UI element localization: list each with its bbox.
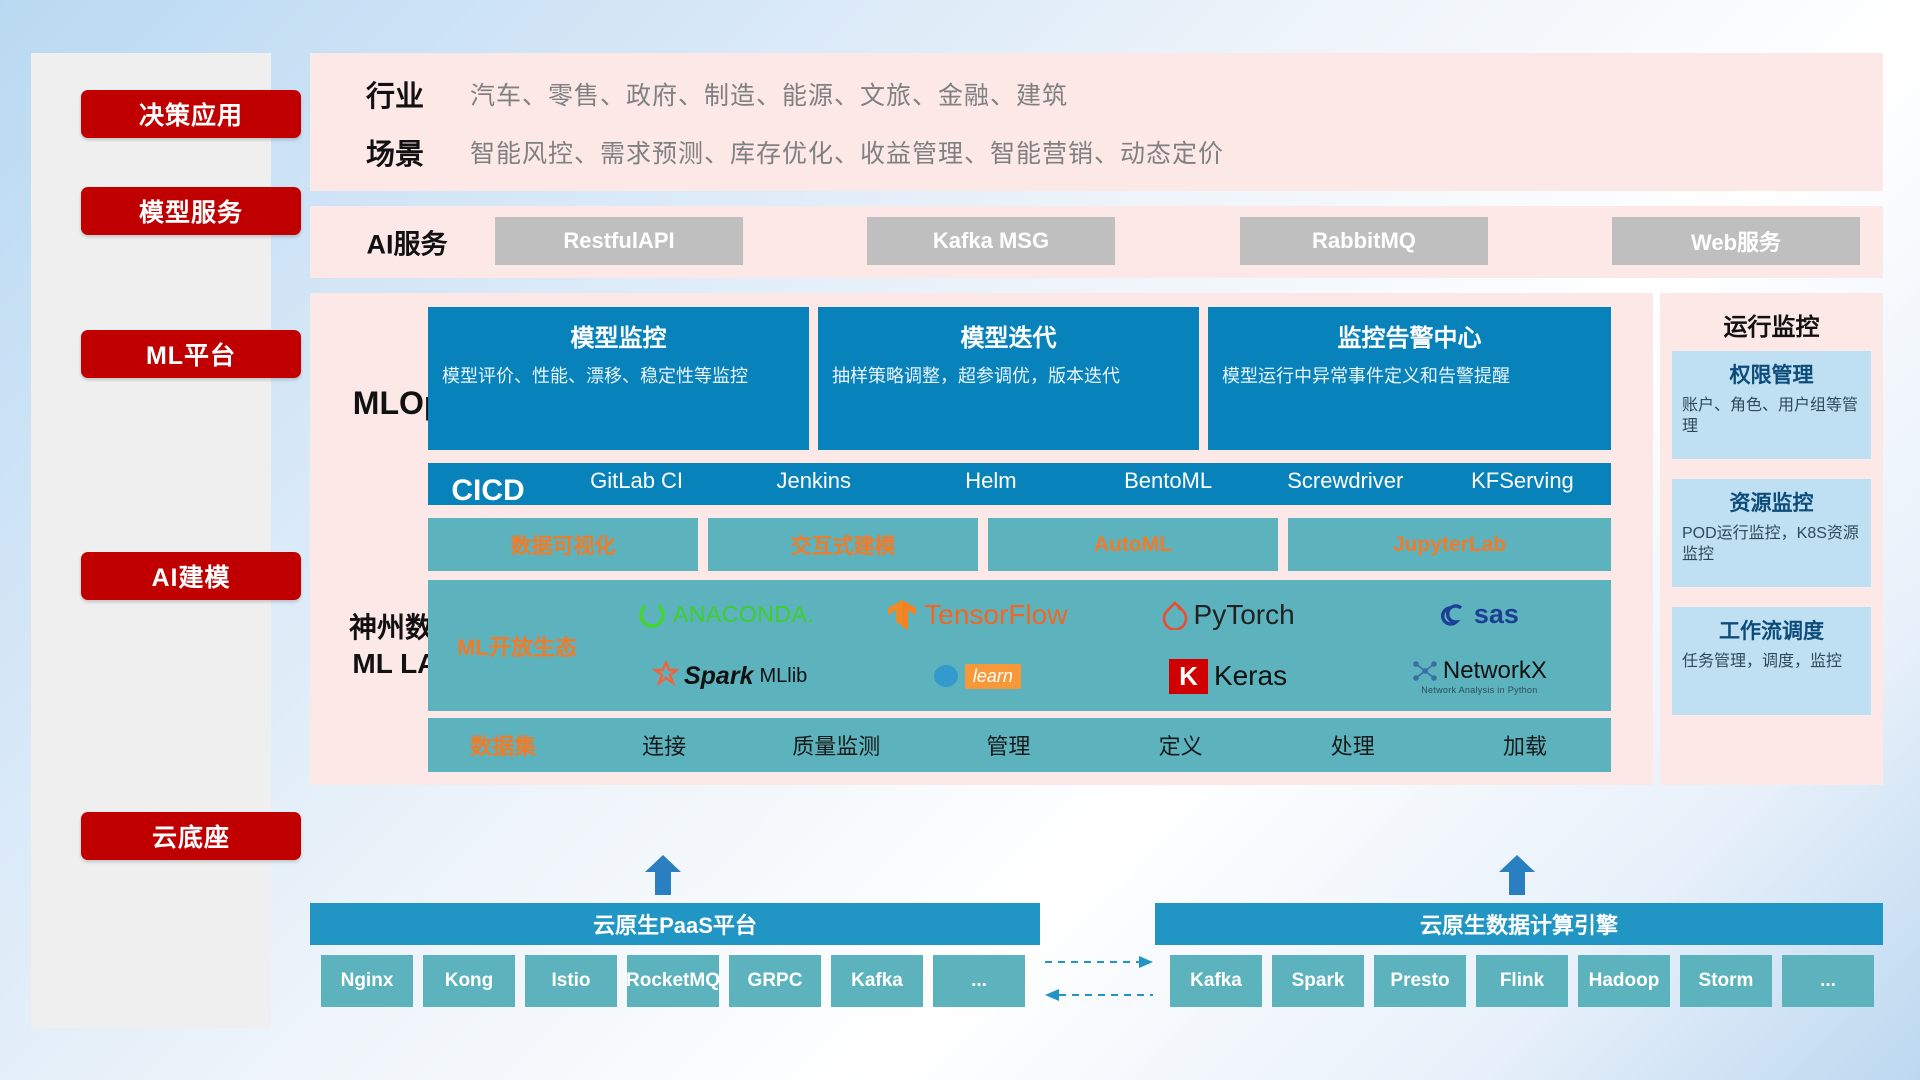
dataset-item-quality-monitor[interactable]: 质量监测 xyxy=(750,729,922,761)
data-chip-presto[interactable]: Presto xyxy=(1374,955,1466,1007)
paas-chip-grpc[interactable]: GRPC xyxy=(729,955,821,1007)
networkx-logo: NetworkX Network Analysis in Python xyxy=(1354,646,1605,708)
spark-mllib-logo: Spark MLlib xyxy=(600,646,851,708)
anaconda-icon xyxy=(637,600,667,630)
mlops-layer-panel: MLOps 模型监控 模型评价、性能、漂移、稳定性等监控 模型迭代 抽样策略调整… xyxy=(310,293,1653,528)
pytorch-icon xyxy=(1162,600,1188,630)
dataset-title: 数据集 xyxy=(428,729,578,761)
spark-label: Spark xyxy=(684,662,753,691)
monitoring-rail: 运行监控 权限管理 账户、角色、用户组等管理 资源监控 POD运行监控，K8S资… xyxy=(1660,293,1883,785)
arrow-up-data-icon xyxy=(1498,855,1536,895)
scenario-values: 智能风控、需求预测、库存优化、收益管理、智能营销、动态定价 xyxy=(470,134,1224,170)
scenario-label: 场景 xyxy=(320,131,470,173)
pytorch-logo: PyTorch xyxy=(1103,584,1354,646)
card-title: 模型监控 xyxy=(442,318,795,353)
monitor-card-title: 权限管理 xyxy=(1682,359,1861,389)
data-chip-storm[interactable]: Storm xyxy=(1680,955,1772,1007)
card-desc: 抽样策略调整，超参调优，版本迭代 xyxy=(832,364,1185,389)
card-title: 监控告警中心 xyxy=(1222,318,1597,353)
monitor-card-permission[interactable]: 权限管理 账户、角色、用户组等管理 xyxy=(1672,351,1871,459)
networkx-sublabel: Network Analysis in Python xyxy=(1421,685,1537,695)
scikit-blue-icon xyxy=(933,663,959,689)
paas-chip-nginx[interactable]: Nginx xyxy=(321,955,413,1007)
dataset-item-load[interactable]: 加载 xyxy=(1439,729,1611,761)
data-chip-more[interactable]: ... xyxy=(1782,955,1874,1007)
sidebar-item-ai-modeling[interactable]: AI建模 xyxy=(81,552,301,600)
service-chip-kafka-msg[interactable]: Kafka MSG xyxy=(867,217,1115,265)
paas-chip-istio[interactable]: Istio xyxy=(525,955,617,1007)
monitor-card-desc: 账户、角色、用户组等管理 xyxy=(1682,395,1861,437)
service-chip-web-service[interactable]: Web服务 xyxy=(1612,217,1860,265)
keras-label: Keras xyxy=(1214,660,1287,692)
service-chip-label: Kafka MSG xyxy=(933,228,1049,254)
industry-row: 行业 汽车、零售、政府、制造、能源、文旅、金融、建筑 xyxy=(320,73,1068,115)
networkx-icon xyxy=(1412,659,1438,683)
monitor-card-workflow[interactable]: 工作流调度 任务管理，调度，监控 xyxy=(1672,607,1871,715)
application-layer-panel: 行业 汽车、零售、政府、制造、能源、文旅、金融、建筑 场景 智能风控、需求预测、… xyxy=(310,53,1883,191)
sidebar-item-label: ML平台 xyxy=(146,336,236,372)
ml-ecosystem-title: ML开放生态 xyxy=(442,630,592,662)
sidebar-item-model-service[interactable]: 模型服务 xyxy=(81,187,301,235)
data-chip-row: Kafka Spark Presto Flink Hadoop Storm ..… xyxy=(1170,955,1874,1007)
service-chip-restfulapi[interactable]: RestfulAPI xyxy=(495,217,743,265)
scikit-learn-logo: learn xyxy=(851,646,1102,708)
sas-label: sas xyxy=(1474,599,1519,630)
tool-chip-label: 交互式建模 xyxy=(791,530,896,560)
paas-platform-bar[interactable]: 云原生PaaS平台 xyxy=(310,903,1040,945)
monitor-card-desc: POD运行监控，K8S资源监控 xyxy=(1682,523,1861,565)
tool-chip-interactive-modeling[interactable]: 交互式建模 xyxy=(708,518,978,571)
left-layer-rail: 决策应用 模型服务 ML平台 AI建模 云底座 xyxy=(31,53,271,1028)
mlops-card-model-monitoring[interactable]: 模型监控 模型评价、性能、漂移、稳定性等监控 xyxy=(428,307,809,450)
dataset-item-connect[interactable]: 连接 xyxy=(578,729,750,761)
dataset-item-define[interactable]: 定义 xyxy=(1095,729,1267,761)
keras-k-icon: K xyxy=(1169,659,1208,694)
cicd-title: CICD xyxy=(428,474,548,508)
sas-icon xyxy=(1440,601,1468,629)
monitor-card-desc: 任务管理，调度，监控 xyxy=(1682,651,1861,672)
mlops-card-alert-center[interactable]: 监控告警中心 模型运行中异常事件定义和告警提醒 xyxy=(1208,307,1611,450)
ai-service-label: AI服务 xyxy=(332,223,482,262)
service-chip-rabbitmq[interactable]: RabbitMQ xyxy=(1240,217,1488,265)
spark-icon xyxy=(644,661,678,691)
monitor-card-title: 资源监控 xyxy=(1682,487,1861,517)
paas-chip-kafka[interactable]: Kafka xyxy=(831,955,923,1007)
dataset-item-manage[interactable]: 管理 xyxy=(922,729,1094,761)
networkx-label: NetworkX xyxy=(1443,657,1547,685)
bidirectional-dashed-arrows-icon xyxy=(1045,950,1153,1010)
scenario-row: 场景 智能风控、需求预测、库存优化、收益管理、智能营销、动态定价 xyxy=(320,131,1224,173)
sidebar-item-label: 模型服务 xyxy=(139,193,243,229)
ai-modeling-layer-panel: 神州数码 ML LAB 数据可视化 交互式建模 AutoML JupyterLa… xyxy=(310,505,1653,785)
data-chip-flink[interactable]: Flink xyxy=(1476,955,1568,1007)
scikit-learn-label: learn xyxy=(965,664,1021,689)
data-chip-kafka[interactable]: Kafka xyxy=(1170,955,1262,1007)
card-title: 模型迭代 xyxy=(832,318,1185,353)
service-chip-label: RestfulAPI xyxy=(563,228,674,254)
framework-logo-grid: ANACONDA. TensorFlow PyTorch xyxy=(600,584,1605,707)
anaconda-label: ANACONDA. xyxy=(673,601,814,628)
tensorflow-logo: TensorFlow xyxy=(851,584,1102,646)
pytorch-label: PyTorch xyxy=(1194,599,1295,631)
dataset-item-process[interactable]: 处理 xyxy=(1267,729,1439,761)
sidebar-item-label: 决策应用 xyxy=(139,96,243,132)
monitor-card-resource[interactable]: 资源监控 POD运行监控，K8S资源监控 xyxy=(1672,479,1871,587)
paas-chip-rocketmq[interactable]: RocketMQ xyxy=(627,955,719,1007)
data-chip-hadoop[interactable]: Hadoop xyxy=(1578,955,1670,1007)
data-engine-label: 云原生数据计算引擎 xyxy=(1420,908,1618,940)
data-chip-spark[interactable]: Spark xyxy=(1272,955,1364,1007)
tool-chip-automl[interactable]: AutoML xyxy=(988,518,1278,571)
sidebar-item-cloud-base[interactable]: 云底座 xyxy=(81,812,301,860)
card-desc: 模型评价、性能、漂移、稳定性等监控 xyxy=(442,364,795,389)
monitor-card-title: 工作流调度 xyxy=(1682,615,1861,645)
industry-label: 行业 xyxy=(320,73,470,115)
paas-chip-kong[interactable]: Kong xyxy=(423,955,515,1007)
sidebar-item-label: AI建模 xyxy=(151,558,230,594)
service-chip-label: Web服务 xyxy=(1691,225,1781,257)
dataset-bar: 数据集 连接 质量监测 管理 定义 处理 加载 xyxy=(428,718,1611,772)
data-engine-bar[interactable]: 云原生数据计算引擎 xyxy=(1155,903,1883,945)
ml-ecosystem-panel: ML开放生态 ANACONDA. TensorFlow xyxy=(428,580,1611,711)
paas-chip-more[interactable]: ... xyxy=(933,955,1025,1007)
ai-service-layer-panel: AI服务 RestfulAPI Kafka MSG RabbitMQ Web服务 xyxy=(310,206,1883,278)
tensorflow-label: TensorFlow xyxy=(924,599,1067,631)
tool-chip-data-visualization[interactable]: 数据可视化 xyxy=(428,518,698,571)
sas-logo: sas xyxy=(1354,584,1605,646)
tool-chip-jupyterlab[interactable]: JupyterLab xyxy=(1288,518,1611,571)
paas-platform-label: 云原生PaaS平台 xyxy=(593,908,757,940)
sidebar-item-ml-platform[interactable]: ML平台 xyxy=(81,330,301,378)
service-chip-label: RabbitMQ xyxy=(1312,228,1416,254)
sidebar-item-decision-app[interactable]: 决策应用 xyxy=(81,90,301,138)
tool-chip-label: 数据可视化 xyxy=(511,530,616,560)
mllib-label: MLlib xyxy=(759,665,807,688)
industry-values: 汽车、零售、政府、制造、能源、文旅、金融、建筑 xyxy=(470,76,1068,112)
paas-chip-row: Nginx Kong Istio RocketMQ GRPC Kafka ... xyxy=(321,955,1025,1007)
tensorflow-icon xyxy=(886,598,918,632)
keras-logo: K Keras xyxy=(1103,646,1354,708)
monitoring-rail-title: 运行监控 xyxy=(1660,307,1883,342)
mlops-card-model-iteration[interactable]: 模型迭代 抽样策略调整，超参调优，版本迭代 xyxy=(818,307,1199,450)
sidebar-item-label: 云底座 xyxy=(152,818,230,854)
tool-chip-label: AutoML xyxy=(1094,533,1172,557)
arrow-up-paas-icon xyxy=(644,855,682,895)
anaconda-logo: ANACONDA. xyxy=(600,584,851,646)
tool-chip-label: JupyterLab xyxy=(1393,533,1506,557)
card-desc: 模型运行中异常事件定义和告警提醒 xyxy=(1222,364,1597,389)
